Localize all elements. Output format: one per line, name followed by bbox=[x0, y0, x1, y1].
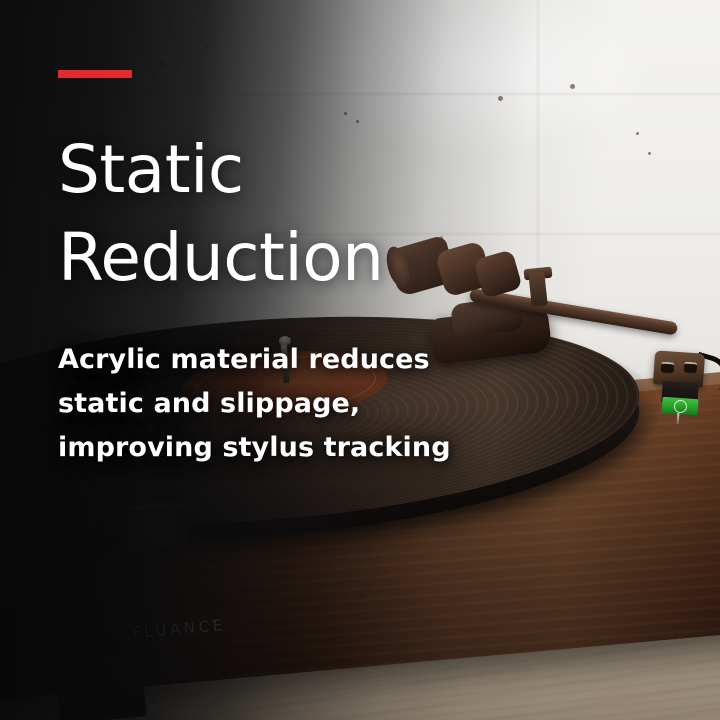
page-title: Static Reduction bbox=[58, 126, 508, 302]
product-feature-card: FLUANCE Static Reduction Acrylic materia… bbox=[0, 0, 720, 720]
text-content-block: Static Reduction Acrylic material reduce… bbox=[58, 0, 508, 470]
feature-description: Acrylic material reduces static and slip… bbox=[58, 338, 508, 470]
accent-bar bbox=[58, 70, 132, 78]
